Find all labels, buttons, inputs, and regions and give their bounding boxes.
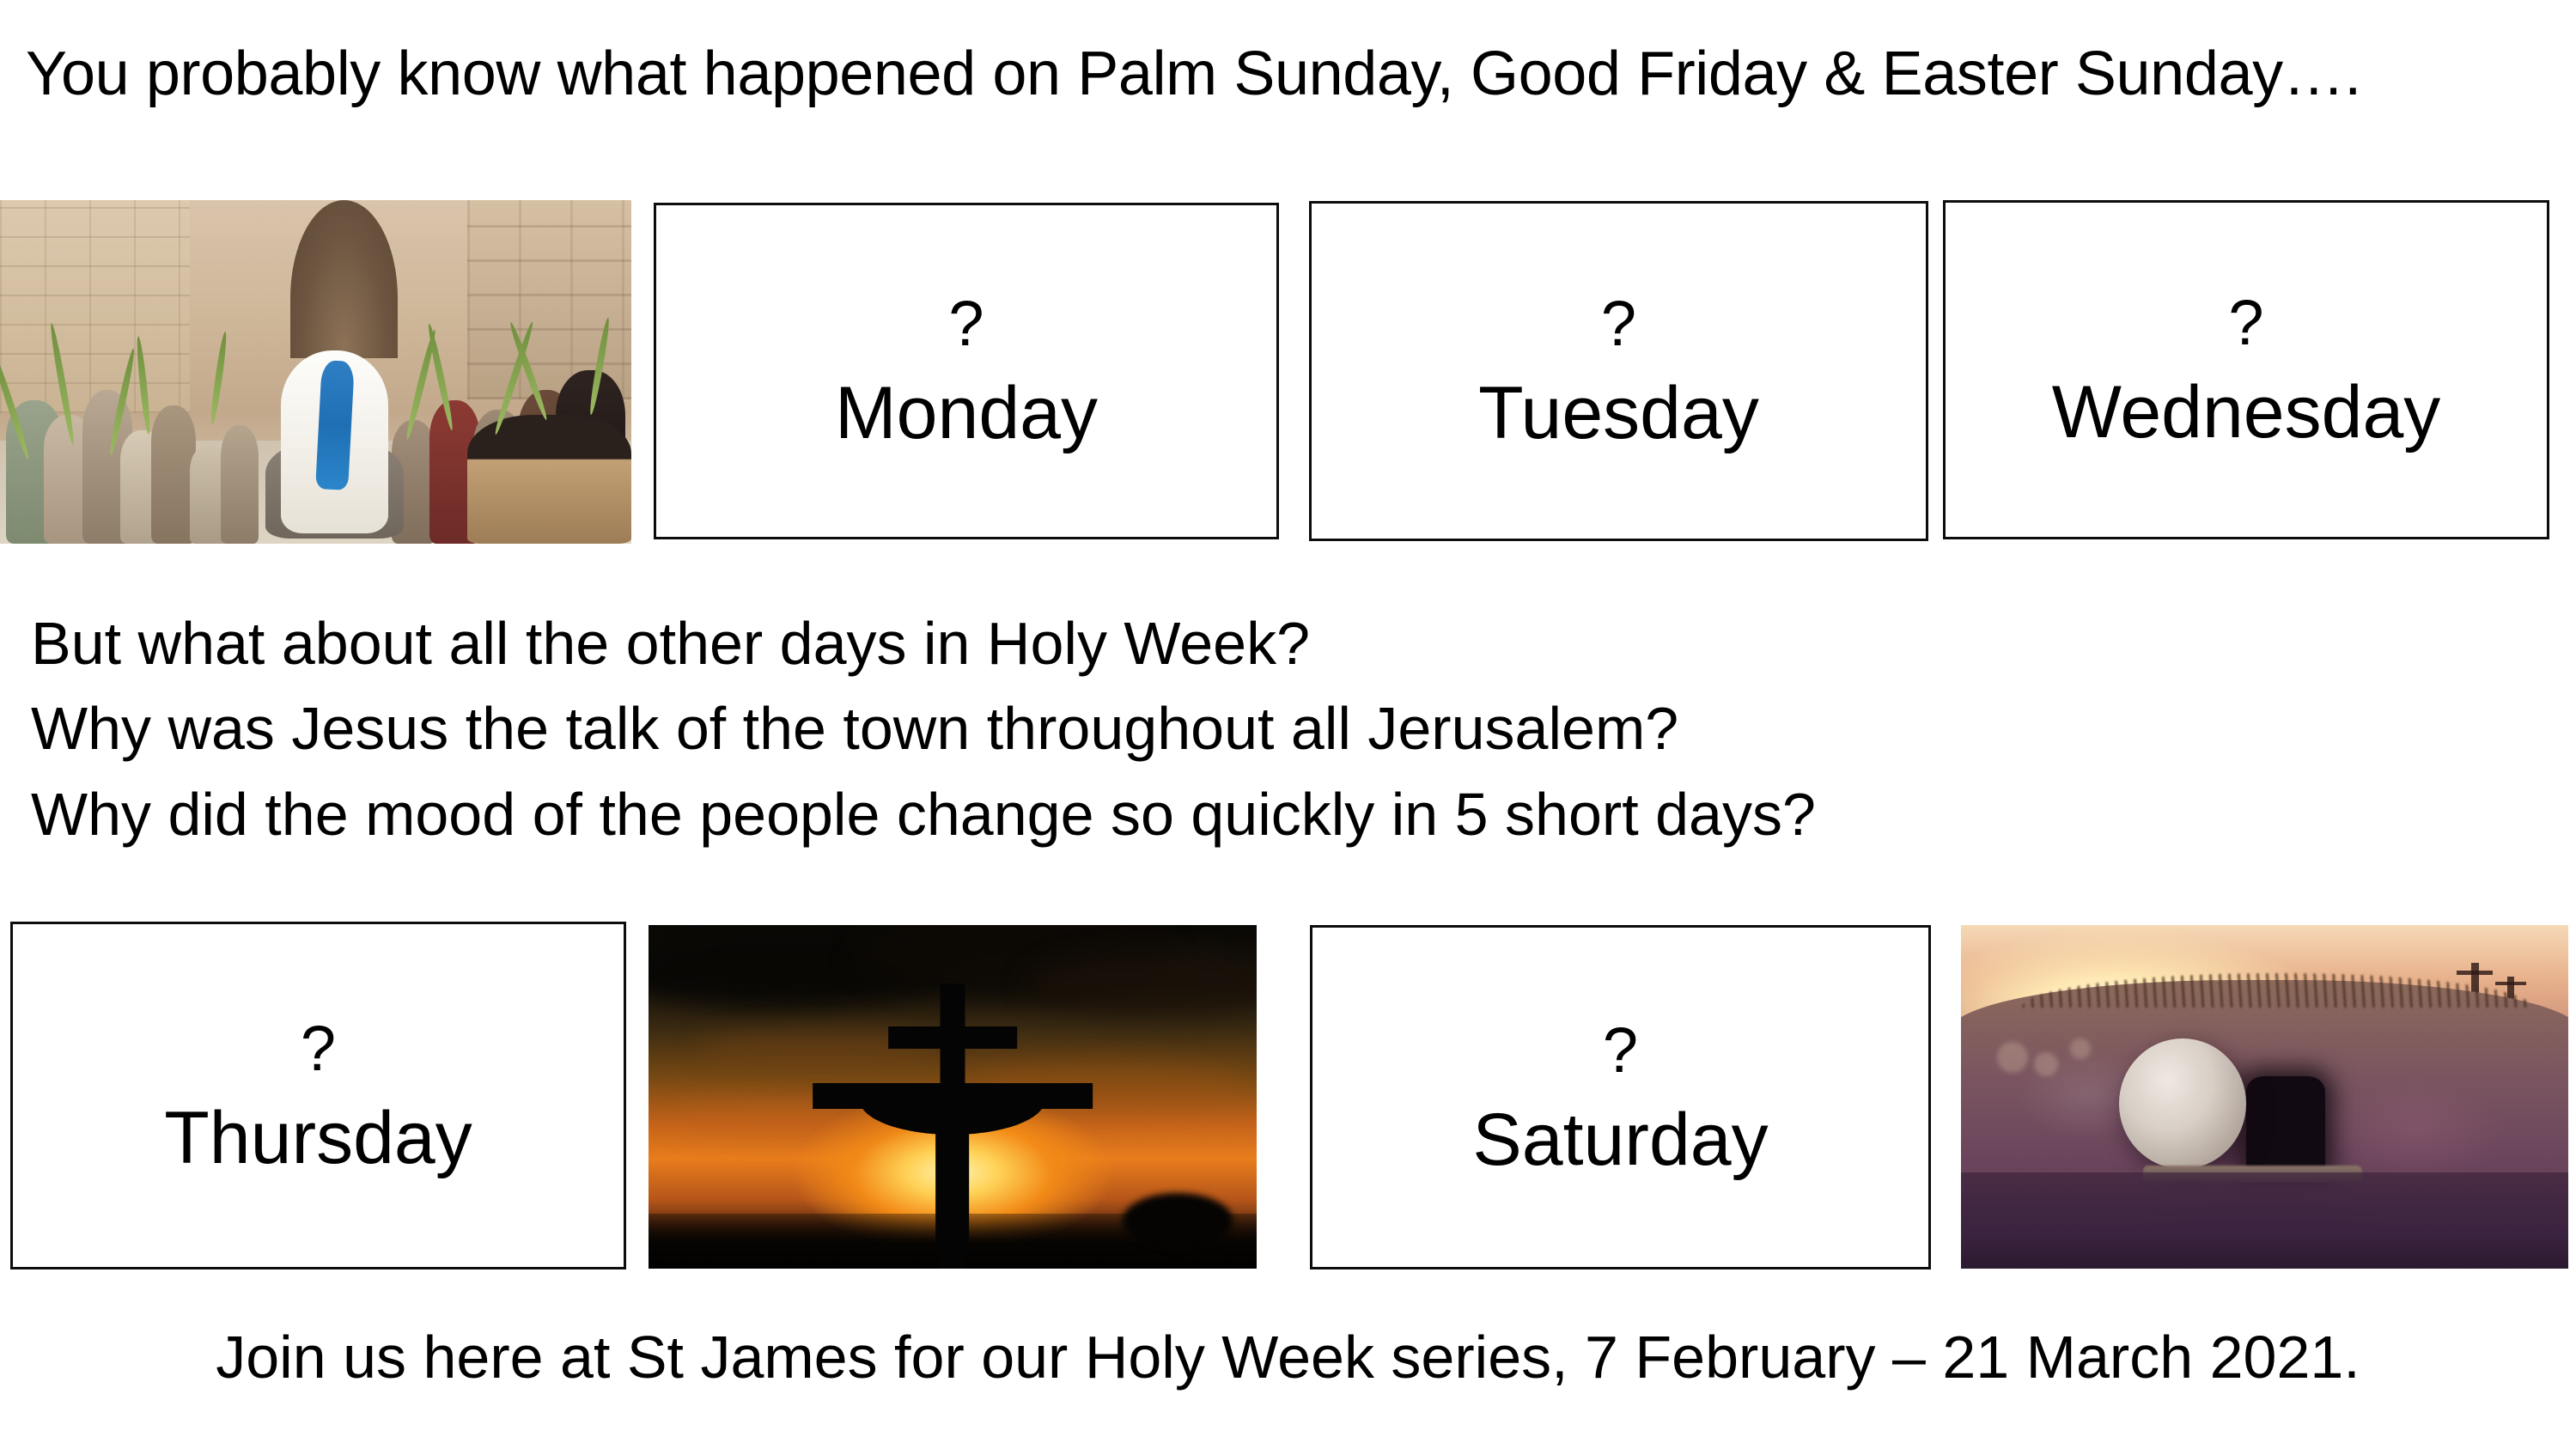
series-dates-footer: Join us here at St James for our Holy We… [0, 1323, 2576, 1391]
day-label-thursday: Thursday [164, 1101, 472, 1175]
question-mark-icon: ? [1603, 1019, 1638, 1082]
palm-crowd [0, 296, 631, 544]
question-mark-icon: ? [2228, 291, 2263, 355]
slide-canvas: You probably know what happened on Palm … [0, 0, 2576, 1449]
day-card-thursday[interactable]: ? Thursday [10, 922, 626, 1269]
question-mark-icon: ? [1601, 292, 1636, 356]
page-title: You probably know what happened on Palm … [26, 38, 2551, 111]
question-line-3: Why did the mood of the people change so… [31, 772, 2264, 857]
day-label-wednesday: Wednesday [2052, 375, 2441, 449]
day-label-saturday: Saturday [1472, 1103, 1768, 1177]
day-card-tuesday[interactable]: ? Tuesday [1309, 201, 1928, 541]
crucifixion-image [649, 925, 1257, 1269]
tomb-entrance [2246, 1076, 2325, 1172]
question-mark-icon: ? [301, 1017, 336, 1081]
day-label-monday: Monday [835, 376, 1098, 450]
day-card-wednesday[interactable]: ? Wednesday [1943, 200, 2549, 539]
empty-tomb-image [1961, 925, 2568, 1269]
question-block: But what about all the other days in Hol… [31, 601, 2264, 857]
question-line-1: But what about all the other days in Hol… [31, 601, 2264, 686]
question-mark-icon: ? [948, 292, 984, 356]
tomb-foreground-ground [1961, 1172, 2568, 1269]
cross-silhouette [813, 983, 1093, 1269]
day-label-tuesday: Tuesday [1478, 376, 1759, 450]
rolled-away-stone [2119, 1038, 2246, 1169]
day-card-monday[interactable]: ? Monday [654, 203, 1279, 539]
day-card-saturday[interactable]: ? Saturday [1310, 925, 1931, 1269]
question-line-2: Why was Jesus the talk of the town throu… [31, 686, 2264, 771]
palm-sunday-image [0, 200, 631, 544]
